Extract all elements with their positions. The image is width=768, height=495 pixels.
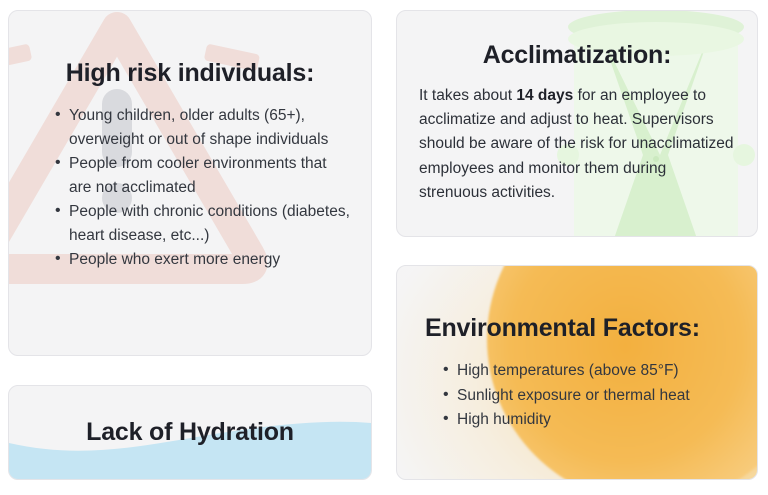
acclimatization-body-suffix: for an employee to acclimatize and adjus… (419, 87, 733, 201)
card-acclimatization-content: Acclimatization: It takes about 14 days … (397, 11, 757, 205)
card-environmental-content: Environmental Factors: High temperatures… (397, 266, 757, 432)
environmental-bullet-list: High temperatures (above 85°F) Sunlight … (397, 359, 757, 432)
list-item: High humidity (443, 408, 739, 432)
high-risk-bullet-list: Young children, older adults (65+), over… (9, 104, 371, 272)
card-acclimatization: Acclimatization: It takes about 14 days … (396, 10, 758, 237)
list-item: Sunlight exposure or thermal heat (443, 384, 739, 408)
list-item: High temperatures (above 85°F) (443, 359, 739, 383)
card-hydration-content: Lack of Hydration (9, 386, 371, 447)
page-title-acclimatization: Acclimatization: (397, 11, 757, 70)
infographic-board: High risk individuals: Young children, o… (0, 0, 768, 495)
list-item: Young children, older adults (65+), over… (55, 104, 353, 151)
card-environmental-factors: Environmental Factors: High temperatures… (396, 265, 758, 480)
acclimatization-body-prefix: It takes about (419, 87, 516, 104)
card-high-risk-individuals: High risk individuals: Young children, o… (8, 10, 372, 356)
card-lack-of-hydration: Lack of Hydration (8, 385, 372, 480)
page-title-environmental: Environmental Factors: (397, 266, 757, 343)
list-item: People with chronic conditions (diabetes… (55, 200, 353, 247)
page-title-high-risk: High risk individuals: (9, 11, 371, 88)
acclimatization-body-emphasis: 14 days (516, 87, 573, 104)
list-item: People from cooler environments that are… (55, 152, 353, 199)
list-item: People who exert more energy (55, 248, 353, 272)
card-high-risk-content: High risk individuals: Young children, o… (9, 11, 371, 272)
page-title-hydration: Lack of Hydration (9, 386, 371, 447)
acclimatization-body: It takes about 14 days for an employee t… (397, 84, 757, 205)
